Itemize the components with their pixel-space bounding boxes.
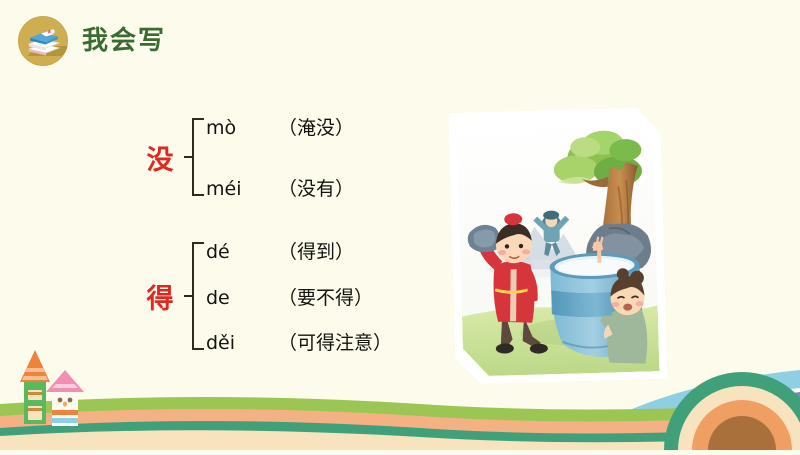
- pronunciation-row: de （要不得）: [206, 283, 392, 310]
- example-word-text: （可得注意）: [278, 328, 392, 355]
- stacked-books-icon: [18, 16, 68, 66]
- pronunciation-rows: mò （淹没） méi （没有）: [206, 111, 354, 203]
- page-title: 我会写: [82, 28, 166, 54]
- brace-bracket-icon: [180, 235, 206, 357]
- brace-bracket-icon: [180, 111, 206, 203]
- pronunciation-row: méi （没有）: [206, 174, 354, 201]
- illustration-card: [448, 107, 668, 385]
- slide-header: 我会写: [18, 16, 166, 66]
- pronunciation-row: dé （得到）: [206, 237, 392, 264]
- pinyin-text: děi: [206, 332, 264, 354]
- sima-guang-smashing-the-vat-illustration: [456, 115, 659, 376]
- pronunciation-rows: dé （得到） de （要不得） děi （可得注意）: [206, 235, 392, 357]
- character-list: 没 mò （淹没） méi （没有） 得: [140, 105, 440, 357]
- headword-character: 得: [140, 277, 180, 316]
- village-decoration: [20, 350, 84, 426]
- pinyin-text: de: [206, 287, 264, 309]
- example-word-text: （淹没）: [278, 113, 354, 140]
- slide-root: 我会写 没 mò （淹没） méi （没有） 得: [0, 0, 800, 450]
- pronunciation-row: děi （可得注意）: [206, 328, 392, 355]
- headword-character: 没: [140, 138, 180, 177]
- example-word-text: （要不得）: [278, 283, 373, 310]
- pinyin-text: dé: [206, 241, 264, 263]
- pronunciation-row: mò （淹没）: [206, 113, 354, 140]
- example-word-text: （得到）: [278, 237, 354, 264]
- pinyin-text: méi: [206, 178, 264, 200]
- pinyin-text: mò: [206, 117, 264, 139]
- character-group: 没 mò （淹没） méi （没有）: [140, 111, 440, 203]
- example-word-text: （没有）: [278, 174, 354, 201]
- character-group: 得 dé （得到） de （要不得） děi （可得注意）: [140, 235, 440, 357]
